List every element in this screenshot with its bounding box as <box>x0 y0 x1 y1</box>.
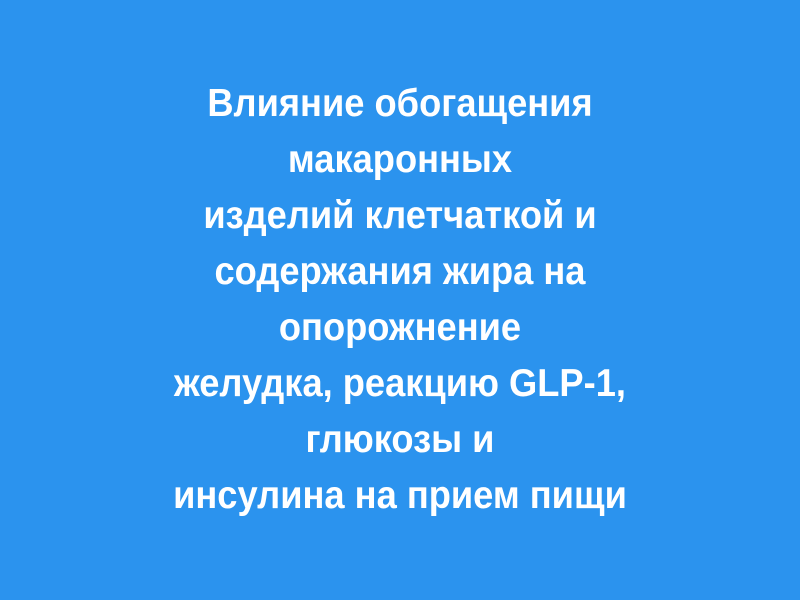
title-slide: Влияние обогащения макаронных изделий кл… <box>0 0 800 600</box>
title-block: Влияние обогащения макаронных изделий кл… <box>60 76 740 524</box>
page-title: Влияние обогащения макаронных изделий кл… <box>93 76 707 524</box>
